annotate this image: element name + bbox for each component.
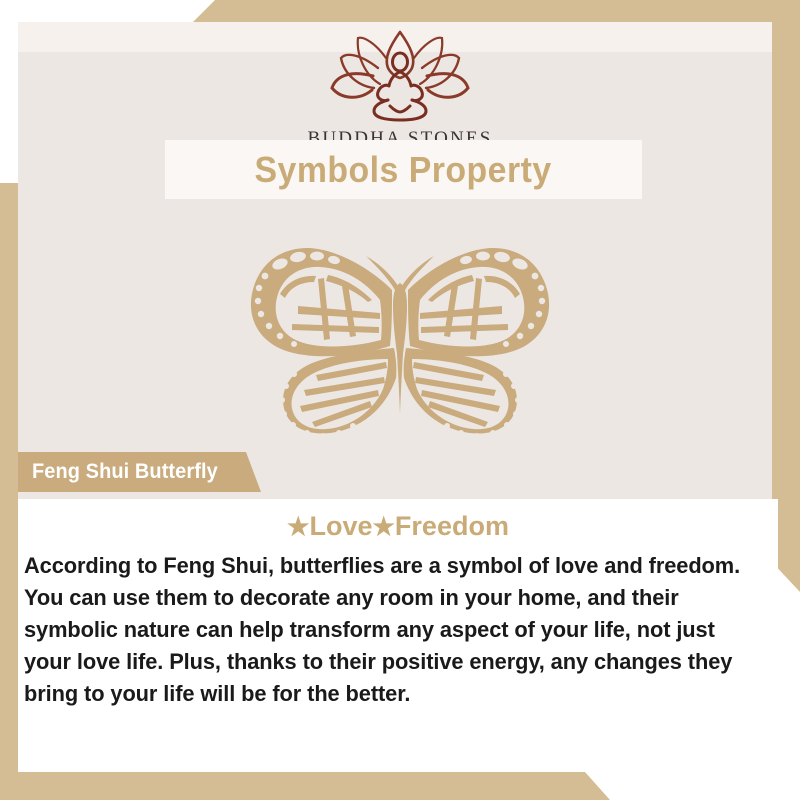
brand-logo: BUDDHA STONES (0, 26, 800, 150)
title-band: Symbols Property (165, 140, 642, 199)
subtitle-word-love: Love (309, 511, 372, 541)
star-icon-left: ★ (287, 513, 309, 541)
content-paragraph: According to Feng Shui, butterflies are … (24, 550, 761, 710)
subtitle-word-freedom: Freedom (395, 511, 509, 541)
butterfly-icon (220, 228, 580, 443)
poster-root: BUDDHA STONES Symbols Property (0, 0, 800, 800)
label-banner: Feng Shui Butterfly (18, 452, 261, 492)
content-subtitle: ★Love★Freedom (18, 511, 778, 542)
decor-bottom-band (0, 772, 800, 800)
lotus-meditation-icon (320, 26, 480, 126)
body-panel: ★Love★Freedom According to Feng Shui, bu… (18, 499, 778, 772)
hero-image (0, 228, 800, 448)
page-title: Symbols Property (255, 149, 552, 191)
label-banner-text: Feng Shui Butterfly (32, 460, 218, 484)
star-icon-mid: ★ (373, 513, 395, 541)
